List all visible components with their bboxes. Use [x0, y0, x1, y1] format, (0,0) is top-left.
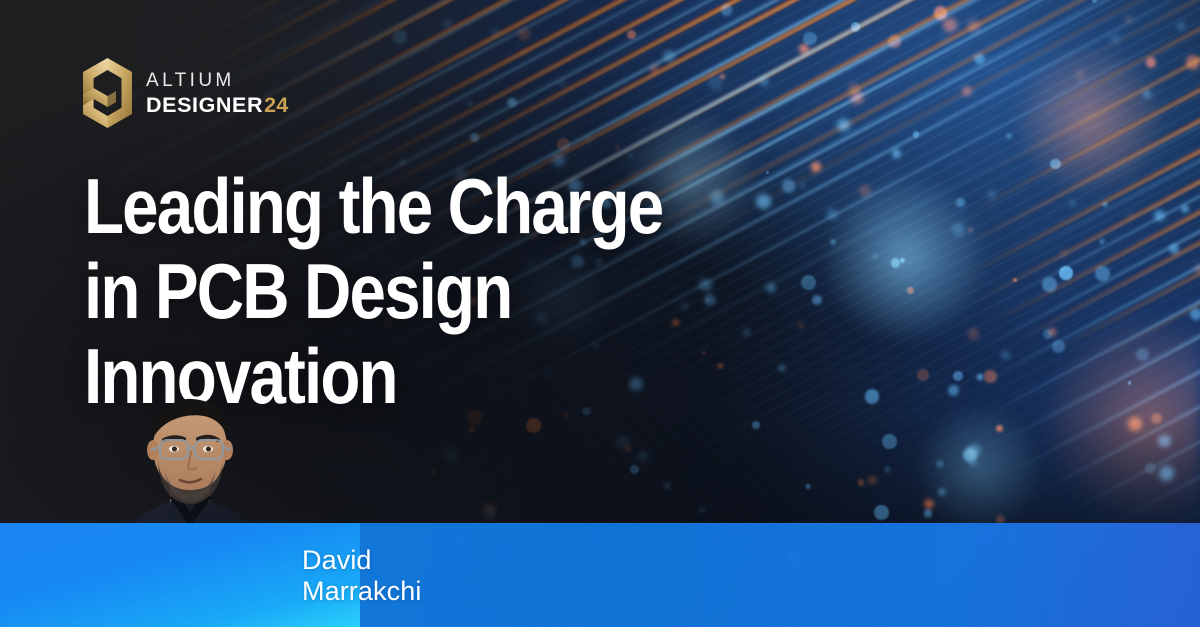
altium-designer-logo-lockup: ALTIUM DESIGNER 24 [83, 58, 288, 128]
page-title-line-2: in PCB Design [84, 249, 662, 334]
speaker-name: David Marrakchi [302, 545, 421, 607]
page-title-line-1: Leading the Charge [84, 164, 662, 249]
logo-version-text: 24 [264, 95, 288, 117]
promo-banner-slide: ALTIUM DESIGNER 24 Leading the Charge in… [0, 0, 1200, 627]
speaker-first-name: David [302, 545, 421, 576]
banner-right-gradient [680, 523, 1200, 627]
page-title: Leading the Charge in PCB Design Innovat… [84, 164, 662, 419]
logo-altium-text: ALTIUM [146, 71, 288, 90]
logo-designer-text: DESIGNER [146, 95, 263, 117]
speaker-last-name: Marrakchi [302, 576, 421, 607]
altium-hexagon-logo-icon [83, 58, 132, 128]
logo-wordmark: ALTIUM DESIGNER 24 [146, 69, 288, 117]
speaker-banner: David Marrakchi [0, 523, 1200, 627]
